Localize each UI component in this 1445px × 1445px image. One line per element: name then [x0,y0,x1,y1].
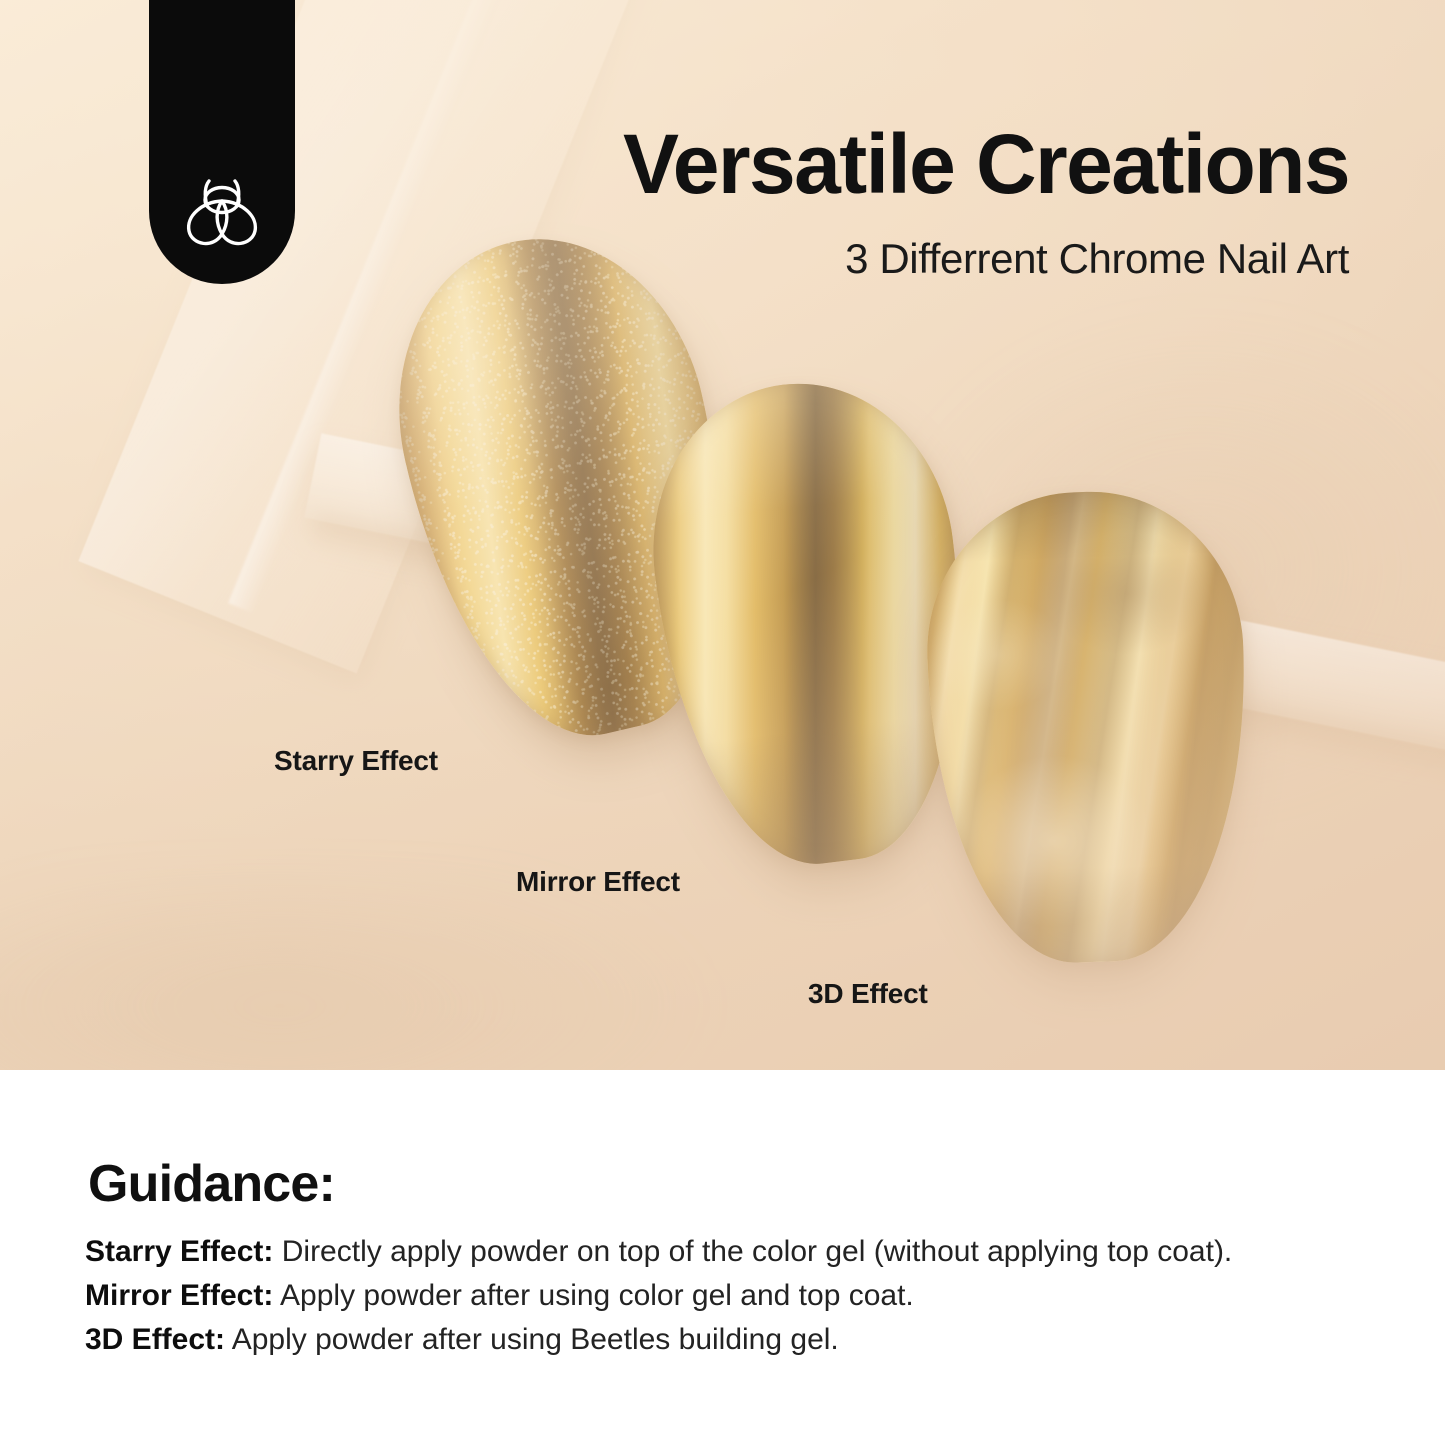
hero-photo: Versatile Creations 3 Differrent Chrome … [0,0,1445,1070]
nail-caption-starry: Starry Effect [274,745,438,777]
guidance-heading: Guidance: [88,1154,335,1214]
guidance-row-starry: Starry Effect: Directly apply powder on … [85,1230,1405,1274]
guidance-label-mirror: Mirror Effect: [85,1279,273,1312]
page-title: Versatile Creations [0,122,1349,206]
guidance-text-mirror: Apply powder after using color gel and t… [273,1279,913,1312]
guidance-panel: Guidance: Starry Effect: Directly apply … [0,1070,1445,1445]
page-subtitle: 3 Differrent Chrome Nail Art [0,238,1349,280]
guidance-row-3d: 3D Effect: Apply powder after using Beet… [85,1318,1405,1362]
guidance-label-3d: 3D Effect: [85,1323,225,1356]
nail-caption-mirror: Mirror Effect [516,866,680,898]
nail-shading-3d [922,487,1254,968]
surface-shadow-left [0,880,880,1070]
guidance-row-mirror: Mirror Effect: Apply powder after using … [85,1274,1405,1318]
nail-caption-3d: 3D Effect [808,978,928,1010]
guidance-text-3d: Apply powder after using Beetles buildin… [225,1323,839,1356]
guidance-list: Starry Effect: Directly apply powder on … [85,1230,1405,1362]
guidance-label-starry: Starry Effect: [85,1235,273,1268]
sculpted-ridges-highlights [922,487,1254,968]
product-infographic: Versatile Creations 3 Differrent Chrome … [0,0,1445,1445]
sculpted-ridges [922,487,1254,968]
nail-sample-3d [922,487,1254,968]
guidance-text-starry: Directly apply powder on top of the colo… [273,1235,1232,1268]
